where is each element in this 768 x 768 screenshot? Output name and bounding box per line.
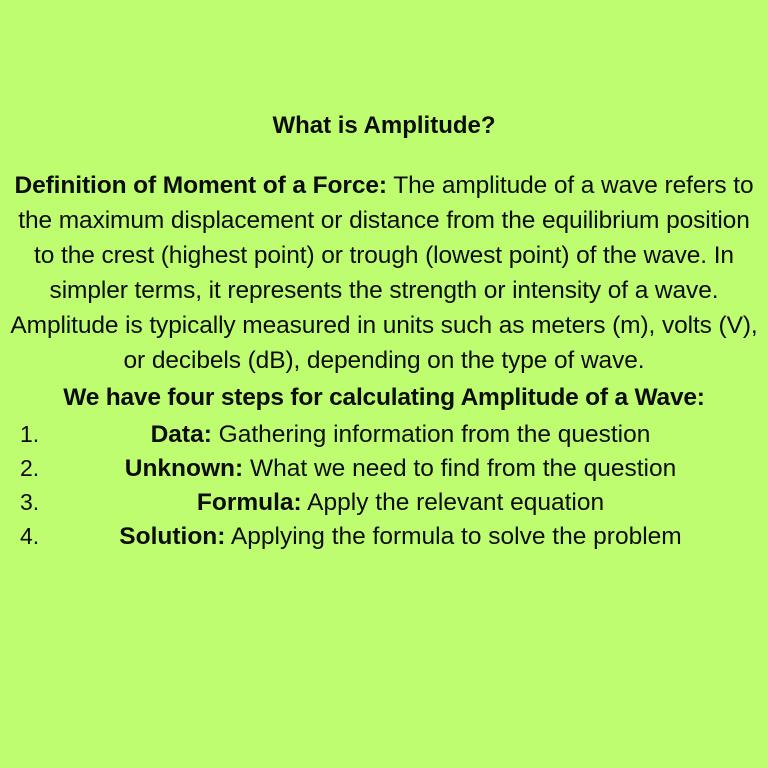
list-item-body: Unknown: What we need to find from the q… <box>43 452 768 486</box>
list-item-body: Data: Gathering information from the que… <box>43 418 768 452</box>
list-item-text: Applying the formula to solve the proble… <box>231 523 682 550</box>
list-item: 2. Unknown: What we need to find from th… <box>0 451 768 485</box>
list-item-number: 3. <box>0 485 43 519</box>
list-item-label: Data: <box>151 421 212 448</box>
list-item-number: 2. <box>0 451 43 485</box>
list-item: 3. Formula: Apply the relevant equation <box>0 485 768 519</box>
list-item-label: Solution: <box>119 523 225 550</box>
page-title: How to Calculate the Amplitude of a Wave <box>16 36 752 80</box>
list-item: 4. Solution: Applying the formula to sol… <box>0 519 768 553</box>
list-item-label: Formula: <box>197 489 302 516</box>
steps-list: 1. Data: Gathering information from the … <box>0 417 768 553</box>
section-subheading: What is Amplitude? <box>16 111 752 141</box>
list-item-text: Gathering information from the question <box>219 421 651 448</box>
list-item-body: Solution: Applying the formula to solve … <box>43 520 768 554</box>
list-item-text: What we need to find from the question <box>250 455 676 482</box>
definition-lead-label: Definition of Moment of a Force: <box>14 172 386 199</box>
steps-heading: We have four steps for calculating Ampli… <box>10 382 758 414</box>
list-item-body: Formula: Apply the relevant equation <box>43 486 768 520</box>
list-item-number: 1. <box>0 417 43 451</box>
list-item-text: Apply the relevant equation <box>307 489 604 516</box>
brand-watermark: PHYSICSCALCULATIONS.COM <box>0 665 768 713</box>
list-item-label: Unknown: <box>125 455 243 482</box>
definition-body-text: The amplitude of a wave refers to the ma… <box>10 172 757 374</box>
list-item: 1. Data: Gathering information from the … <box>0 417 768 451</box>
definition-paragraph: Definition of Moment of a Force: The amp… <box>6 168 762 378</box>
infographic-card: How to Calculate the Amplitude of a Wave… <box>0 0 768 768</box>
list-item-number: 4. <box>0 519 43 553</box>
